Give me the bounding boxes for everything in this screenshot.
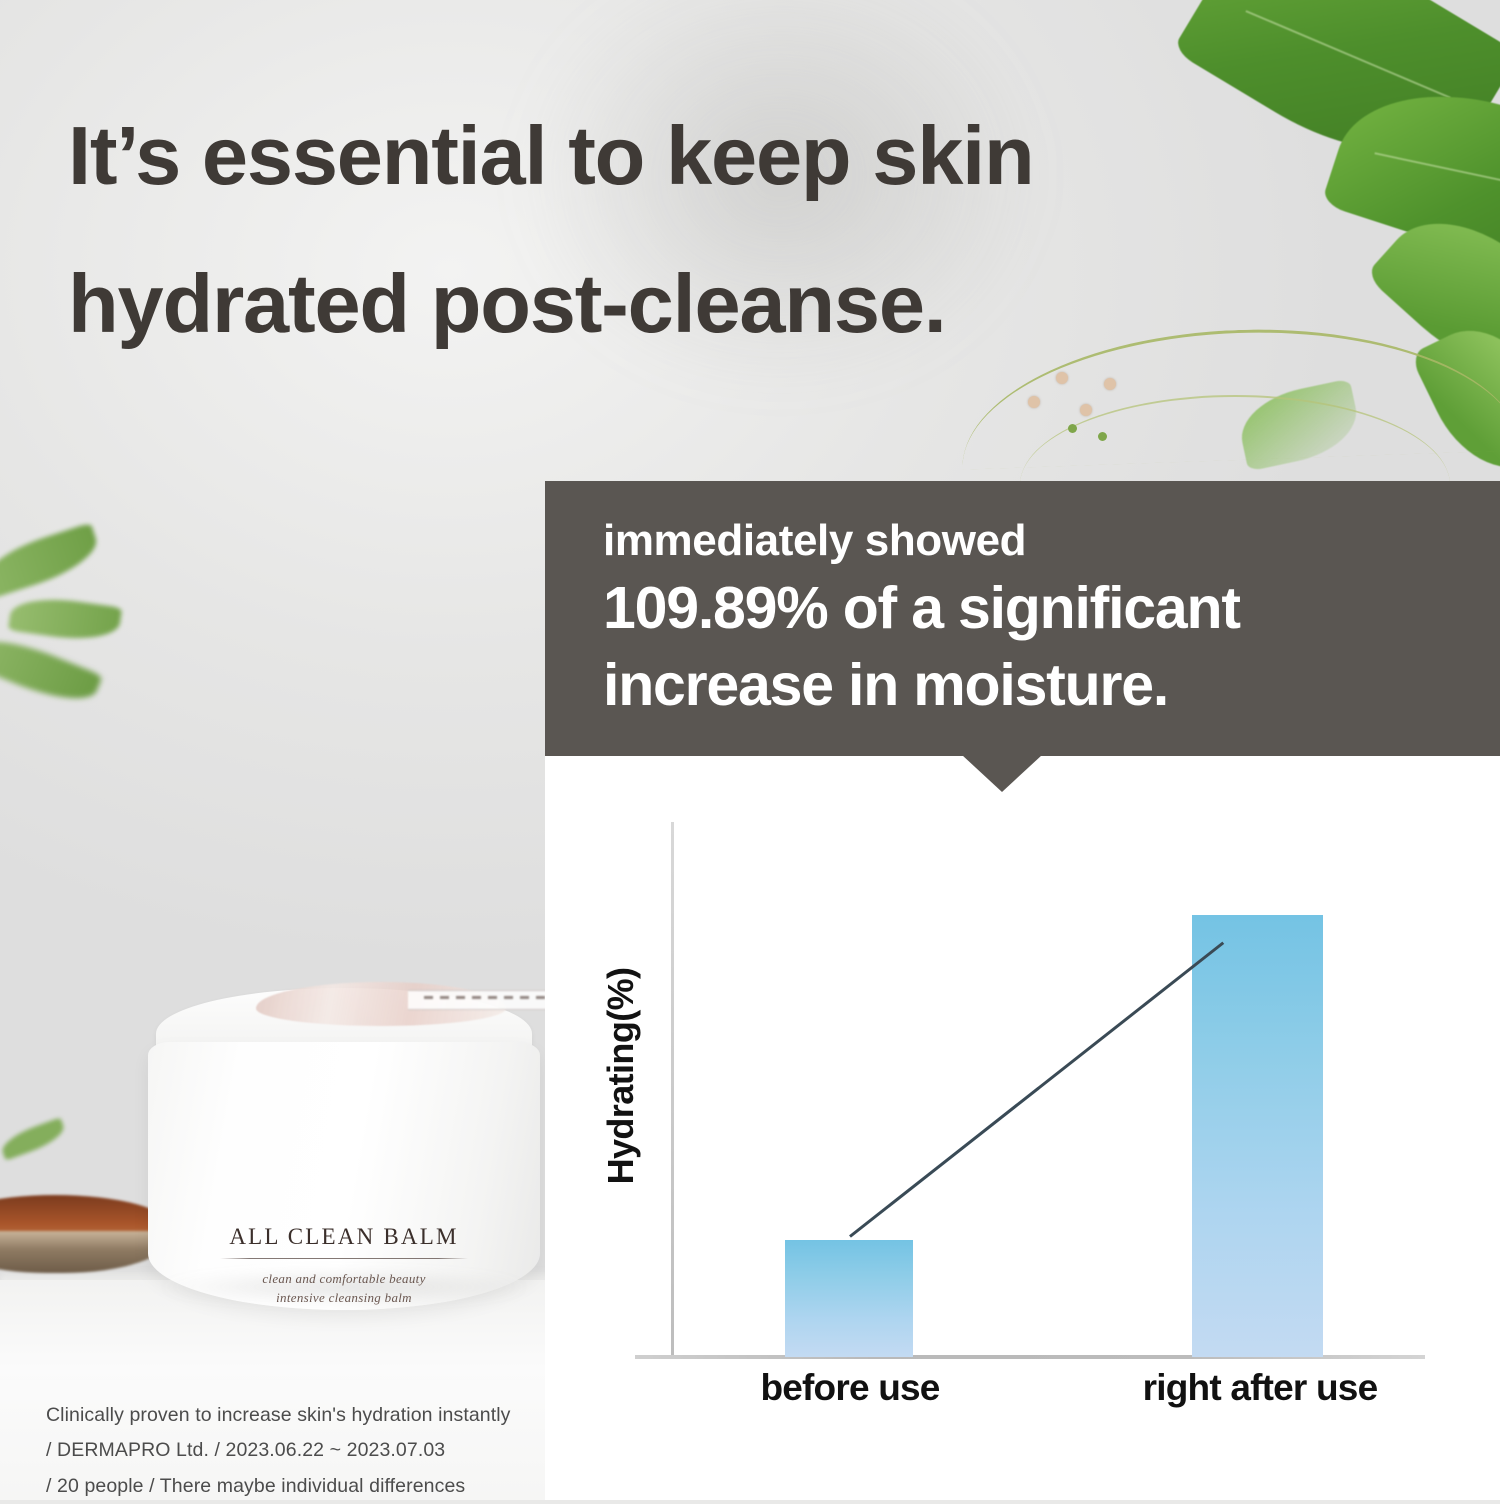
jar-body: ALL CLEAN BALM clean and comfortable bea… [148,1042,540,1310]
leaf-icon [0,1117,68,1160]
leaf-icon [0,627,103,713]
y-axis-label: Hydrating(%) [600,936,642,1216]
bar-right-after-use [1192,915,1323,1357]
flower-bud-icon [1068,424,1077,433]
hydration-bar-chart: Hydrating(%) before use right after use [545,755,1500,1500]
callout-pointer [962,755,1042,792]
product-jar: ALL CLEAN BALM clean and comfortable bea… [148,988,540,1318]
flower-bud-icon [1028,396,1040,408]
callout-line-2: 109.89% of a significant [603,567,1500,651]
flower-bud-icon [1080,404,1092,416]
leaf-icon [0,522,104,599]
trend-line [849,942,1224,1238]
lid-sticker [256,982,506,1026]
headline-line-1: It’s essential to keep skin [68,82,1248,230]
product-subtitle: clean and comfortable beauty intensive c… [148,1270,540,1308]
leaf-icon [8,593,122,646]
product-brand-name: ALL CLEAN BALM [148,1224,540,1250]
product-subtitle-line-2: intensive cleansing balm [148,1289,540,1308]
x-tick-label-right-after-use: right after use [1085,1367,1435,1409]
page-title: It’s essential to keep skin hydrated pos… [68,82,1248,377]
callout-line-1: immediately showed [603,515,1500,567]
flower-bud-icon [1104,378,1116,390]
bar-before-use [785,1240,913,1357]
study-footnote: Clinically proven to increase skin's hyd… [46,1398,546,1504]
footnote-line-2: / DERMAPRO Ltd. / 2023.06.22 ~ 2023.07.0… [46,1433,546,1468]
label-divider [220,1258,468,1259]
y-axis-line [671,822,674,1357]
bowl-bark-edge [0,1231,170,1273]
footnote-line-1: Clinically proven to increase skin's hyd… [46,1398,546,1433]
statistic-callout: immediately showed 109.89% of a signific… [545,481,1500,756]
jar-label: ALL CLEAN BALM clean and comfortable bea… [148,1224,540,1308]
callout-line-3: increase in moisture. [603,651,1500,721]
wooden-bowl [0,1195,170,1273]
product-subtitle-line-1: clean and comfortable beauty [148,1270,540,1289]
footnote-line-3: / 20 people / There maybe individual dif… [46,1469,546,1504]
flower-bud-icon [1098,432,1107,441]
x-tick-label-before-use: before use [705,1367,995,1409]
headline-line-2: hydrated post-cleanse. [68,230,1248,378]
